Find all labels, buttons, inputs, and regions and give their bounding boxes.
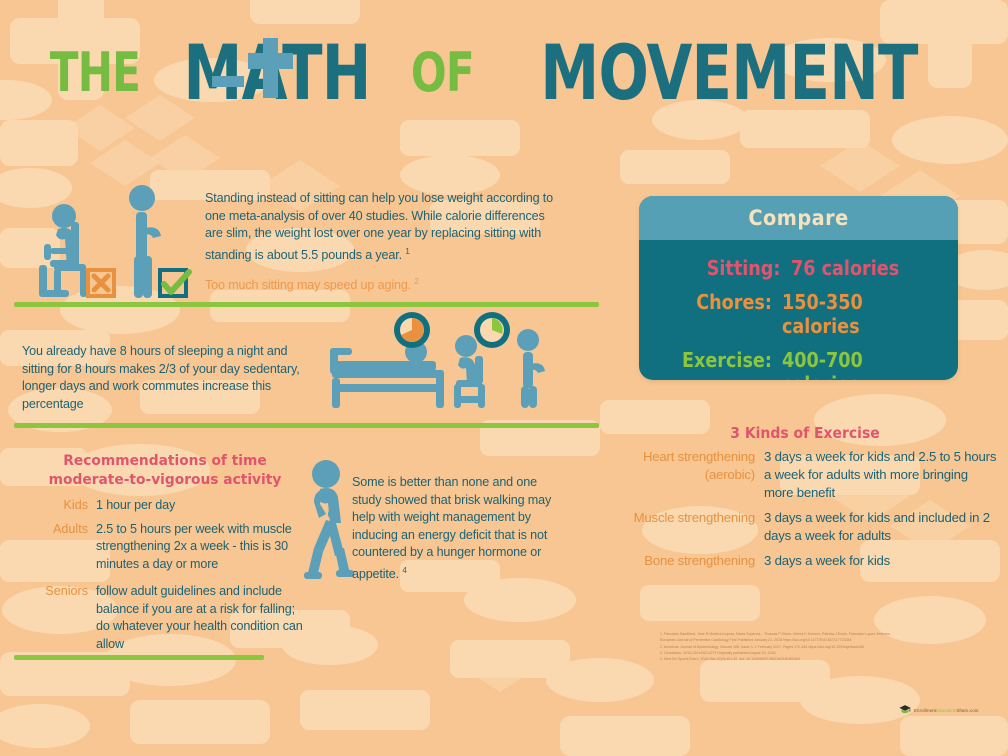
compare-value-chores: 150-350 calories xyxy=(782,290,936,338)
standing-note-text: Too much sitting may speed up aging. xyxy=(205,278,411,292)
footnote-item: 1. Fauciano Sandiford, Jose R Medina-Ino… xyxy=(660,632,990,637)
recommendation-desc-seniors: follow adult guidelines and include bala… xyxy=(96,583,310,653)
logo-text: EnrollmentEducationShare.com xyxy=(914,708,979,713)
compare-label-exercise: Exercise: xyxy=(656,348,782,372)
x-mark-icon xyxy=(86,268,116,298)
graduation-cap-icon xyxy=(898,703,912,717)
compare-title: Compare xyxy=(748,206,848,230)
recommendations-title-line2: moderate-to-vigorous activity xyxy=(27,471,303,490)
footnote-item: 3. Circulation. 2016;134:e262-e279 Origi… xyxy=(660,651,990,656)
title-math-group: MATH xyxy=(157,28,397,117)
sitting-standing-illustration xyxy=(14,172,194,302)
compare-label-sitting: Sitting: xyxy=(657,256,791,280)
site-logo[interactable]: EnrollmentEducationShare.com xyxy=(898,703,979,717)
recommendation-desc-adults: 2.5 to 5 hours per week with muscle stre… xyxy=(96,521,310,574)
poster-title: THE MATH OF MOVEMENT xyxy=(0,28,1008,117)
recommendations-title-line1: Recommendations of time xyxy=(27,452,303,471)
logo-suffix: Share.com xyxy=(956,708,978,713)
kind-desc-bone: 3 days a week for kids xyxy=(764,552,998,570)
sleep-sit-stand-illustration xyxy=(328,308,558,408)
sedentary-paragraph: You already have 8 hours of sleeping a n… xyxy=(22,343,322,413)
recommendation-row-kids: Kids 1 hour per day xyxy=(20,497,310,515)
standing-note: Too much sitting may speed up aging. 2 xyxy=(205,273,560,295)
walking-paragraph-text: Some is better than none and one study s… xyxy=(352,475,551,581)
pie-chart-orange-icon xyxy=(394,312,430,348)
title-word-of: OF xyxy=(411,41,474,104)
compare-rows: Sitting: 76 calories Chores: 150-350 cal… xyxy=(639,240,958,380)
footnote-item: 4. Med Sci Sports Exerc. 2018 Mar;42(3):… xyxy=(660,657,990,662)
divider-top xyxy=(14,302,599,307)
footnote-ref-2: 2 xyxy=(414,277,418,286)
compare-card: Compare Sitting: 76 calories Chores: 150… xyxy=(639,196,958,380)
kind-row-muscle: Muscle strengthening 3 days a week for k… xyxy=(612,509,998,545)
check-mark-icon xyxy=(158,268,189,298)
compare-row-exercise: Exercise: 400-700 calories xyxy=(639,348,958,380)
kind-desc-heart: 3 days a week for kids and 2.5 to 5 hour… xyxy=(764,448,998,502)
kind-row-bone: Bone strengthening 3 days a week for kid… xyxy=(612,552,998,570)
infographic-poster: THE MATH OF MOVEMENT xyxy=(0,0,1008,756)
compare-card-header: Compare xyxy=(639,196,958,240)
title-word-movement: MOVEMENT xyxy=(540,28,917,117)
kind-label-heart: Heart strengthening (aerobic) xyxy=(612,448,764,502)
recommendation-label-seniors: Seniors xyxy=(20,583,96,653)
minus-sign-icon xyxy=(212,76,244,87)
compare-value-sitting: 76 calories xyxy=(791,256,899,280)
footnote-ref-1: 1 xyxy=(405,247,409,256)
kinds-of-exercise-section: 3 Kinds of Exercise Heart strengthening … xyxy=(612,424,998,577)
footnotes-list: 1. Fauciano Sandiford, Jose R Medina-Ino… xyxy=(660,632,990,663)
compare-row-sitting: Sitting: 76 calories xyxy=(639,256,958,280)
pie-chart-green-icon xyxy=(474,312,510,348)
title-word-the: THE xyxy=(50,41,140,104)
recommendation-row-adults: Adults 2.5 to 5 hours per week with musc… xyxy=(20,521,310,574)
standing-paragraph: Standing instead of sitting can help you… xyxy=(205,190,560,264)
divider-mid xyxy=(14,423,599,428)
kind-row-heart: Heart strengthening (aerobic) 3 days a w… xyxy=(612,448,998,502)
kind-desc-muscle: 3 days a week for kids and included in 2… xyxy=(764,509,998,545)
kinds-of-exercise-title: 3 Kinds of Exercise xyxy=(626,424,985,442)
footnote-item: European Journal of Preventive Cardiolog… xyxy=(660,638,990,643)
walking-paragraph: Some is better than none and one study s… xyxy=(352,474,562,583)
recommendation-row-seniors: Seniors follow adult guidelines and incl… xyxy=(20,583,310,653)
recommendations-title: Recommendations of time moderate-to-vigo… xyxy=(27,452,303,490)
standing-paragraph-text: Standing instead of sitting can help you… xyxy=(205,191,553,262)
kind-label-muscle: Muscle strengthening xyxy=(612,509,764,545)
standing-text-block: Standing instead of sitting can help you… xyxy=(205,190,560,295)
compare-row-chores: Chores: 150-350 calories xyxy=(639,290,958,338)
compare-label-chores: Chores: xyxy=(656,290,782,314)
recommendation-desc-kids: 1 hour per day xyxy=(96,497,310,515)
footnote-item: 2. American Journal of Epidemiology, Vol… xyxy=(660,645,990,650)
recommendation-label-adults: Adults xyxy=(20,521,96,574)
kind-label-bone: Bone strengthening xyxy=(612,552,764,570)
sedentary-text-block: You already have 8 hours of sleeping a n… xyxy=(22,343,322,413)
recommendations-section: Recommendations of time moderate-to-vigo… xyxy=(20,452,310,659)
recommendation-label-kids: Kids xyxy=(20,497,96,515)
compare-value-exercise: 400-700 calories xyxy=(782,348,936,380)
plus-sign-icon-bar xyxy=(248,53,293,69)
walking-text-block: Some is better than none and one study s… xyxy=(352,474,562,583)
footnote-ref-4: 4 xyxy=(402,566,406,575)
logo-prefix: Enrollment xyxy=(914,708,936,713)
logo-accent: Education xyxy=(936,708,956,713)
